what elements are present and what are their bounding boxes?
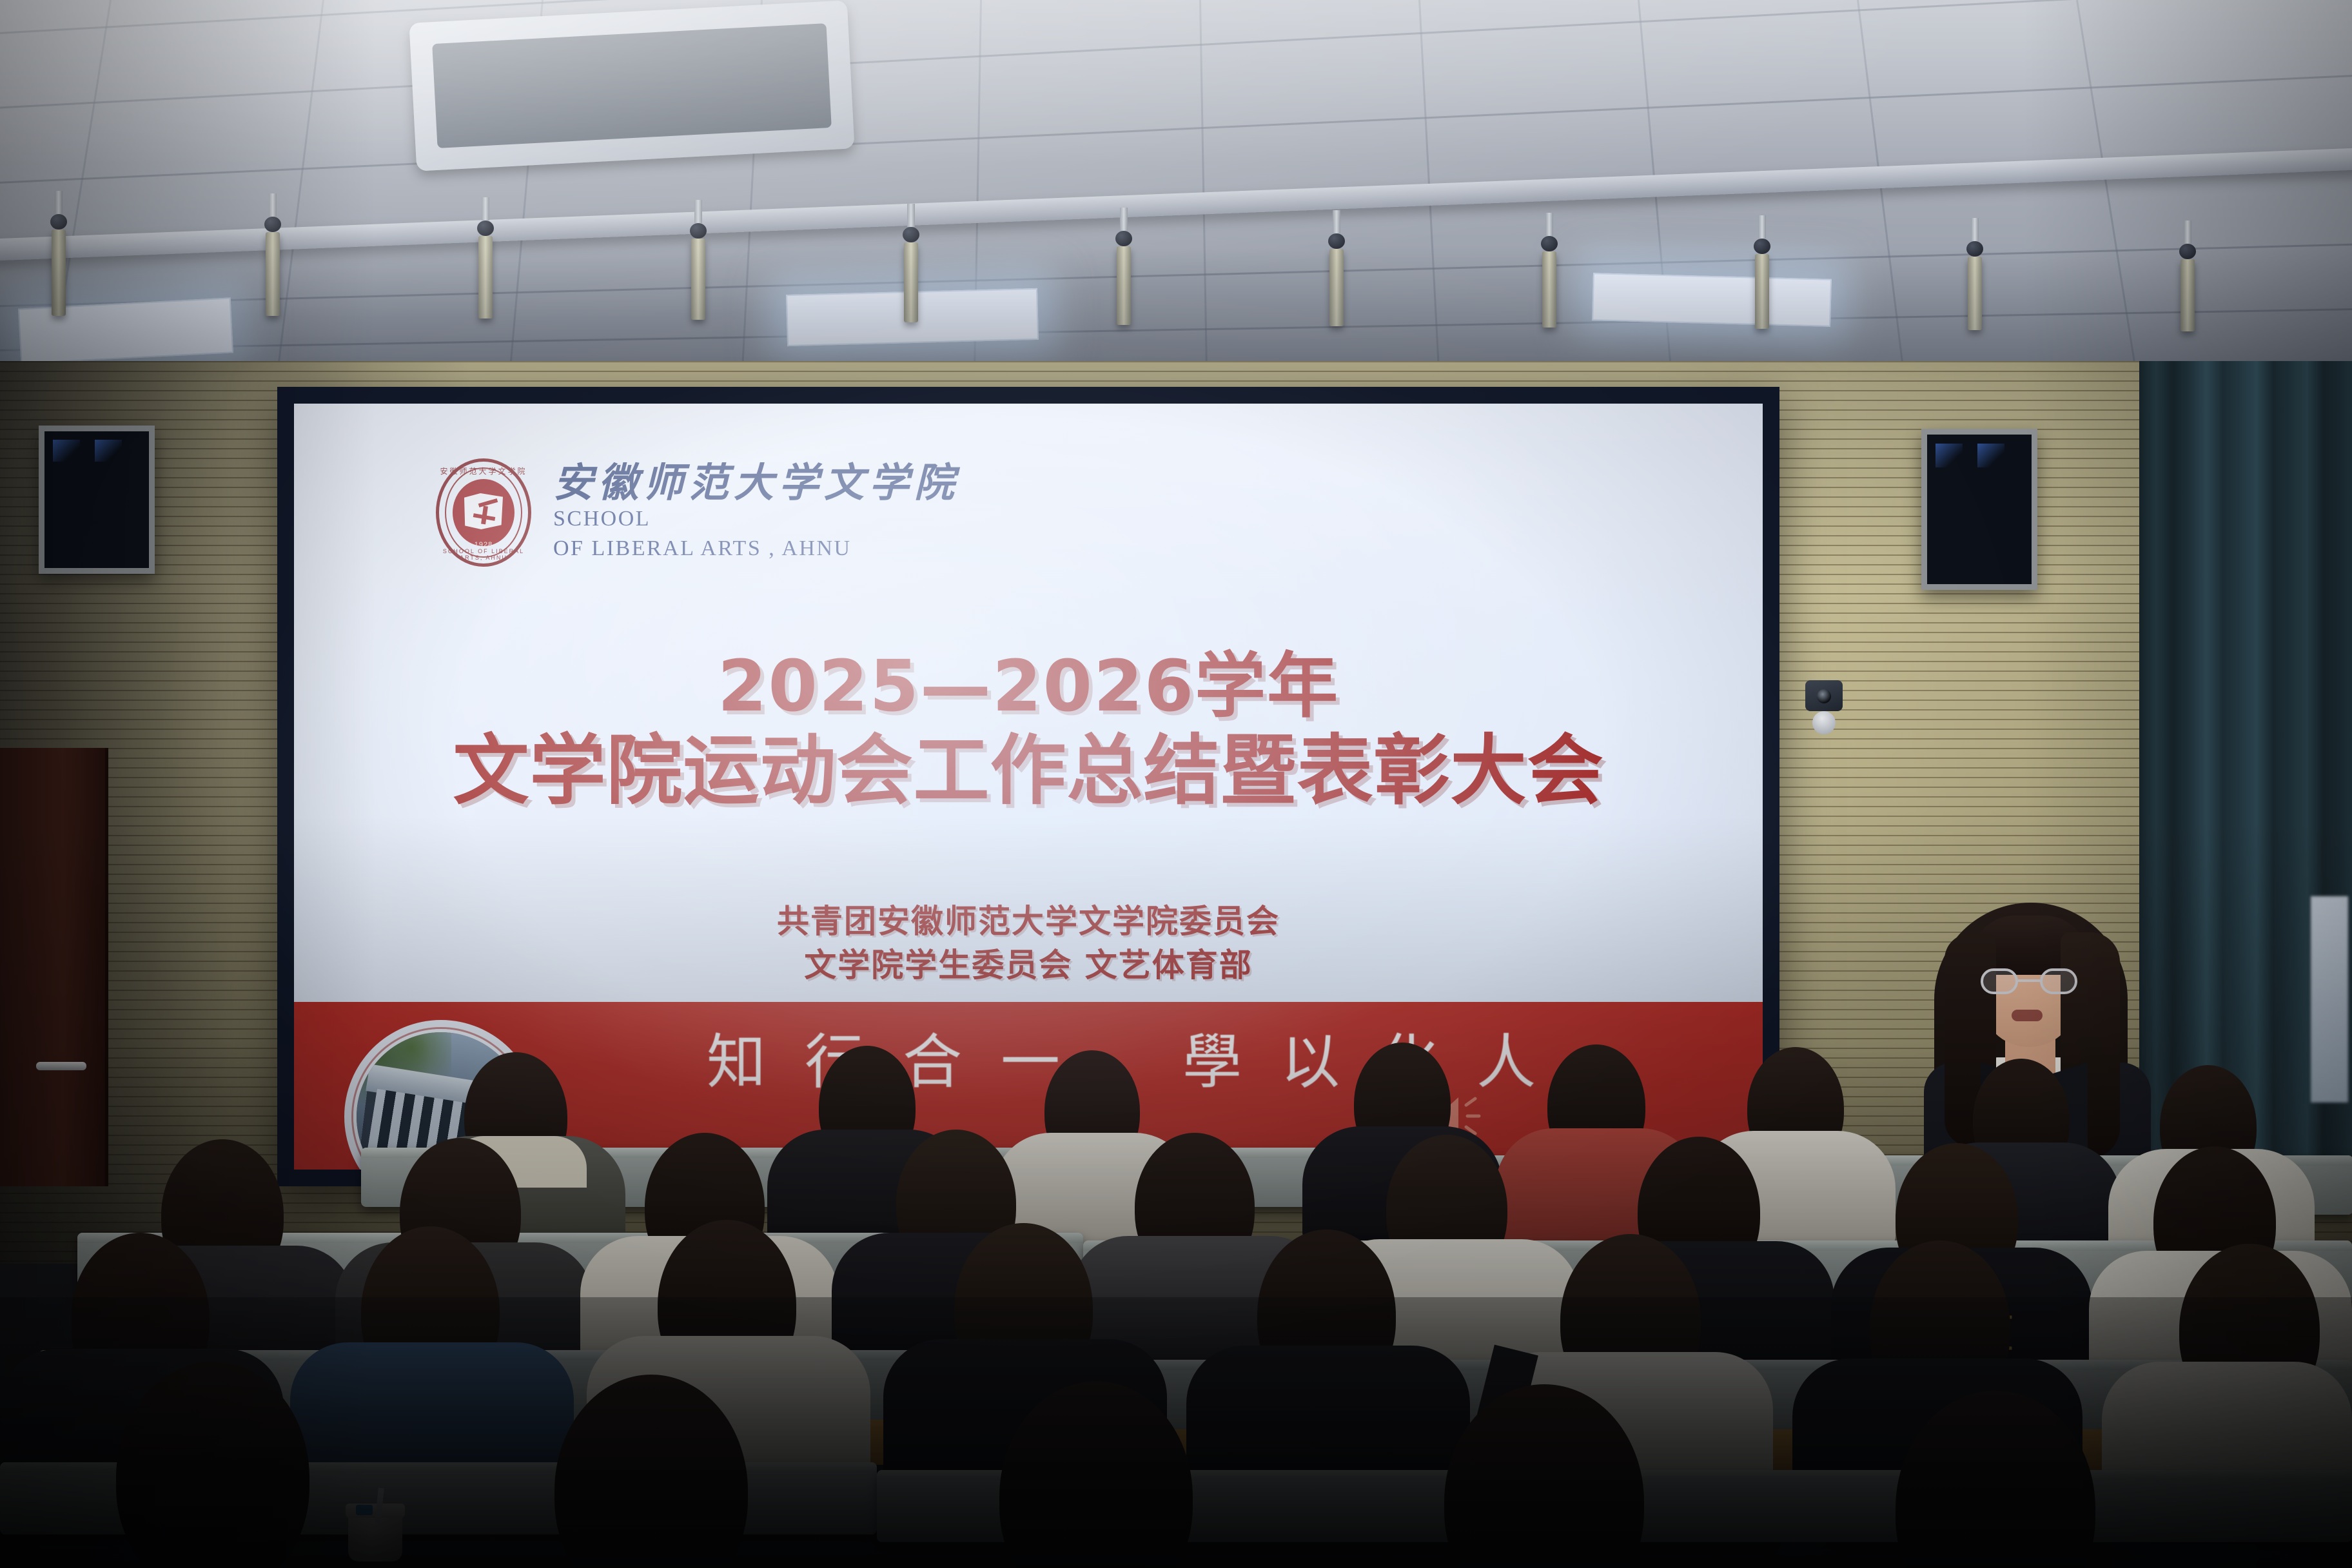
logo-school-name-en-line1: SCHOOL <box>553 505 959 533</box>
audience-area: OYLI <box>0 923 2352 1568</box>
university-seal-icon: 安徽师范大学文学院 1928 SCHOOL OF LIBERAL ARTS, A… <box>436 458 531 567</box>
slide-title-line2: 文学院运动会工作总结暨表彰大会 <box>294 730 1763 811</box>
slide-title-block: 2025—2026学年 文学院运动会工作总结暨表彰大会 <box>294 649 1763 811</box>
framed-dark-display-panel <box>1921 429 2037 590</box>
slide-title-line1: 2025—2026学年 <box>294 649 1763 724</box>
seal-arc-bottom-text: SCHOOL OF LIBERAL ARTS, AHNU <box>436 548 531 561</box>
logo-school-name-en-line2: OF LIBERAL ARTS , AHNU <box>553 535 959 562</box>
framed-dark-display-panel <box>39 426 155 574</box>
logo-school-name-zh: 安徽师范大学文学院 <box>553 463 959 503</box>
lecture-hall-room: 安徽师范大学文学院 1928 SCHOOL OF LIBERAL ARTS, A… <box>0 0 2352 1568</box>
photo-scene: 安徽师范大学文学院 1928 SCHOOL OF LIBERAL ARTS, A… <box>0 0 2352 1568</box>
ceiling <box>0 0 2352 413</box>
seal-arc-top-text: 安徽师范大学文学院 <box>436 465 531 476</box>
wall-camera-icon <box>1805 680 1843 734</box>
slide-logo-block: 安徽师范大学文学院 1928 SCHOOL OF LIBERAL ARTS, A… <box>436 458 959 567</box>
